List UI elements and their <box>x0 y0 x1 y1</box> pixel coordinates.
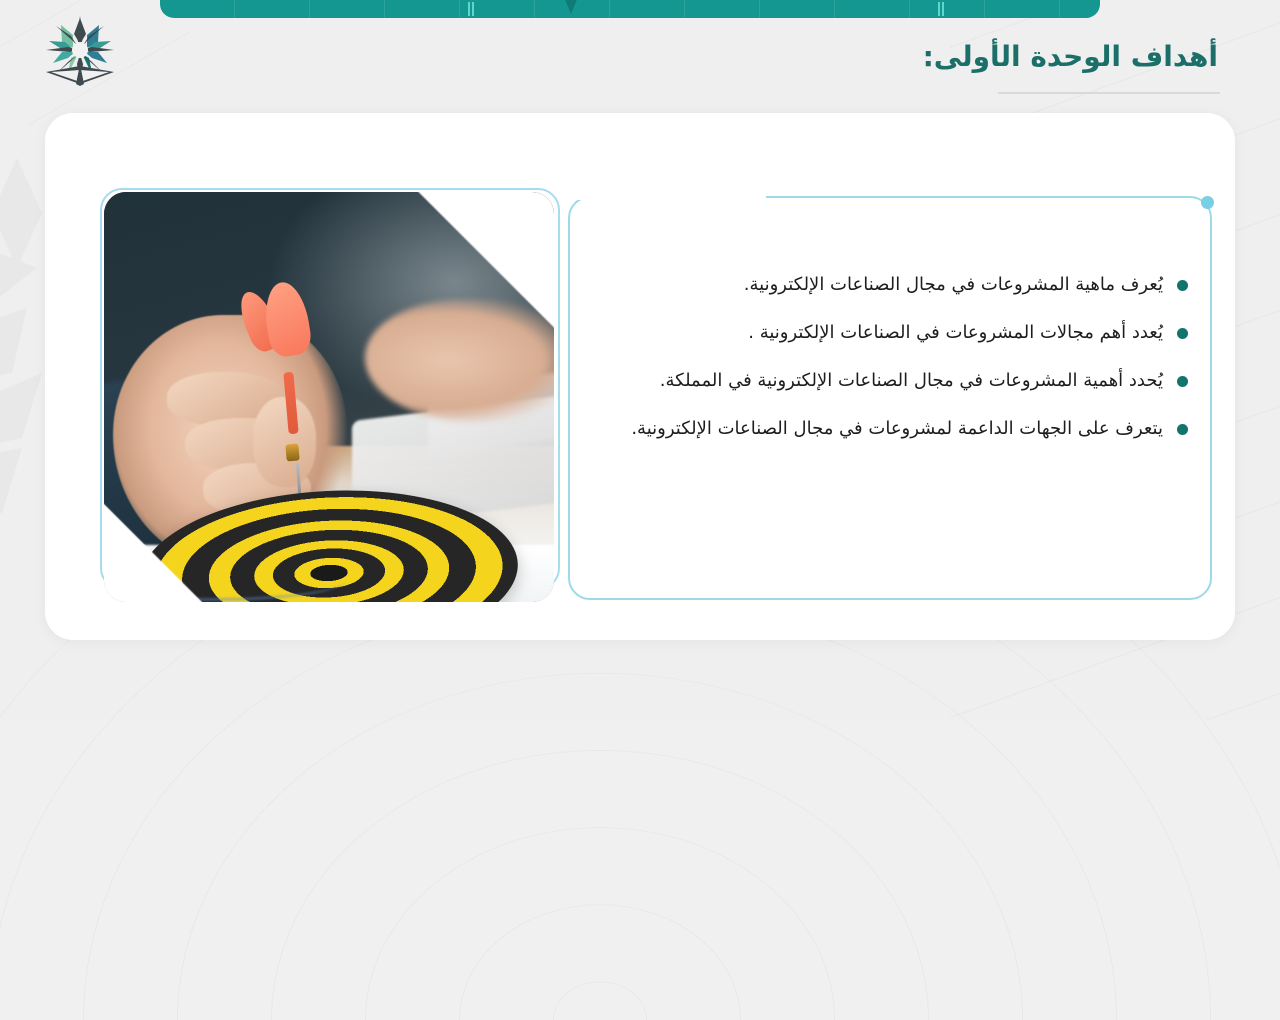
objective-text: يُحدد أهمية المشروعات في مجال الصناعات ا… <box>628 368 1163 394</box>
top-bar-tick <box>942 2 944 16</box>
objective-text: يُعدد أهم مجالات المشروعات في الصناعات ا… <box>628 320 1163 346</box>
list-item: يُحدد أهمية المشروعات في مجال الصناعات ا… <box>628 368 1188 394</box>
top-bar-line-pattern <box>160 0 1100 18</box>
title-underline <box>998 92 1220 94</box>
list-item: يُعدد أهم مجالات المشروعات في الصناعات ا… <box>628 320 1188 346</box>
dart-target-photo <box>104 192 554 602</box>
photo-dart-grip <box>286 444 300 462</box>
bullet-dot-icon <box>1177 376 1188 387</box>
photo-corner-cut-top-right <box>406 192 554 340</box>
bullet-dot-icon <box>1177 280 1188 291</box>
content-card-notch <box>45 113 625 153</box>
bullet-dot-icon <box>1177 328 1188 339</box>
objectives-list: يُعرف ماهية المشروعات في مجال الصناعات ا… <box>628 272 1188 464</box>
top-bar-tick <box>468 2 470 16</box>
photo-corner-cut-bottom-left <box>104 484 222 602</box>
objectives-frame-dot <box>1201 196 1214 209</box>
top-bar-notch <box>562 0 580 14</box>
bullet-dot-icon <box>1177 424 1188 435</box>
page-title: أهداف الوحدة الأولى: <box>923 40 1218 73</box>
objective-text: يتعرف على الجهات الداعمة لمشروعات في مجا… <box>628 416 1163 442</box>
list-item: يتعرف على الجهات الداعمة لمشروعات في مجا… <box>628 416 1188 442</box>
objectives-frame-gap <box>566 194 766 200</box>
top-accent-bar <box>160 0 1100 18</box>
top-bar-tick <box>938 2 940 16</box>
photo-thumb <box>253 397 316 487</box>
objective-text: يُعرف ماهية المشروعات في مجال الصناعات ا… <box>628 272 1163 298</box>
list-item: يُعرف ماهية المشروعات في مجال الصناعات ا… <box>628 272 1188 298</box>
star-flower-logo <box>42 14 118 88</box>
top-bar-tick <box>472 2 474 16</box>
